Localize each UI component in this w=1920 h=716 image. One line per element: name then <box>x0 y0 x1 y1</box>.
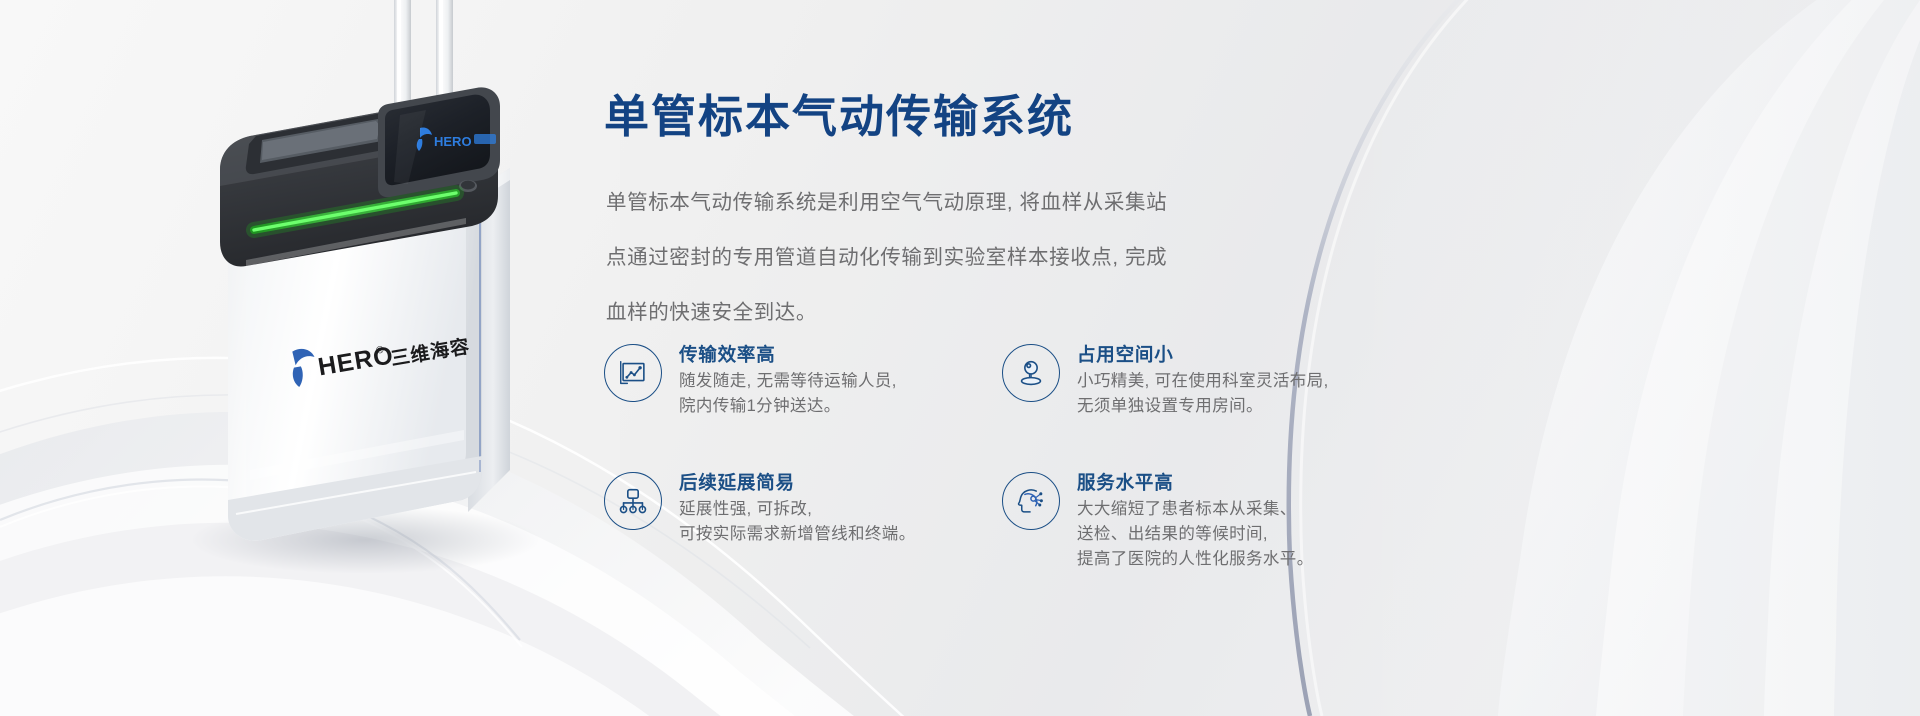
feature-line: 小巧精美, 可在使用科室灵活布局, <box>1077 369 1329 394</box>
product-image: HERO HERO ® 三维海容 <box>150 0 620 716</box>
screen-brand-text: HERO <box>434 134 472 149</box>
feature-line: 大大缩短了患者标本从采集、 <box>1077 497 1314 522</box>
feature-list: 传输效率高 随发随走, 无需等待运输人员, 院内传输1分钟送达。 占用空间小 小… <box>604 342 1304 572</box>
feature-line: 无须单独设置专用房间。 <box>1077 394 1329 419</box>
feature-line: 院内传输1分钟送达。 <box>679 394 897 419</box>
feature-item-easy-expansion: 后续延展简易 延展性强, 可拆改, 可按实际需求新增管线和终端。 <box>604 470 1002 572</box>
feature-line: 可按实际需求新增管线和终端。 <box>679 522 916 547</box>
feature-line: 送检、出结果的等候时间, <box>1077 522 1314 547</box>
feature-line: 延展性强, 可拆改, <box>679 497 916 522</box>
network-expand-icon <box>604 472 662 530</box>
feature-line: 提高了医院的人性化服务水平。 <box>1077 547 1314 572</box>
description-line-3: 血样的快速安全到达。 <box>606 285 1286 340</box>
smart-service-head-icon <box>1002 472 1060 530</box>
feature-title: 传输效率高 <box>679 342 897 369</box>
description-line-2: 点通过密封的专用管道自动化传输到实验室样本接收点, 完成 <box>606 230 1286 285</box>
chart-growth-icon <box>604 344 662 402</box>
feature-item-service-level: 服务水平高 大大缩短了患者标本从采集、 送检、出结果的等候时间, 提高了医院的人… <box>1002 470 1329 572</box>
page-title: 单管标本气动传输系统 <box>604 92 1074 142</box>
feature-title: 服务水平高 <box>1077 470 1314 497</box>
feature-title: 占用空间小 <box>1077 342 1329 369</box>
description-line-1: 单管标本气动传输系统是利用空气气动原理, 将血样从采集站 <box>606 175 1286 230</box>
banner-content: 单管标本气动传输系统 单管标本气动传输系统是利用空气气动原理, 将血样从采集站 … <box>604 0 1894 716</box>
feature-item-transfer-efficiency: 传输效率高 随发随走, 无需等待运输人员, 院内传输1分钟送达。 <box>604 342 1002 452</box>
product-description: 单管标本气动传输系统是利用空气气动原理, 将血样从采集站 点通过密封的专用管道自… <box>606 175 1286 340</box>
feature-item-compact-footprint: 占用空间小 小巧精美, 可在使用科室灵活布局, 无须单独设置专用房间。 <box>1002 342 1329 452</box>
feature-line: 随发随走, 无需等待运输人员, <box>679 369 897 394</box>
pneumatic-tube-station-illustration: HERO HERO ® 三维海容 <box>150 0 620 716</box>
feature-title: 后续延展简易 <box>679 470 916 497</box>
compact-space-icon <box>1002 344 1060 402</box>
